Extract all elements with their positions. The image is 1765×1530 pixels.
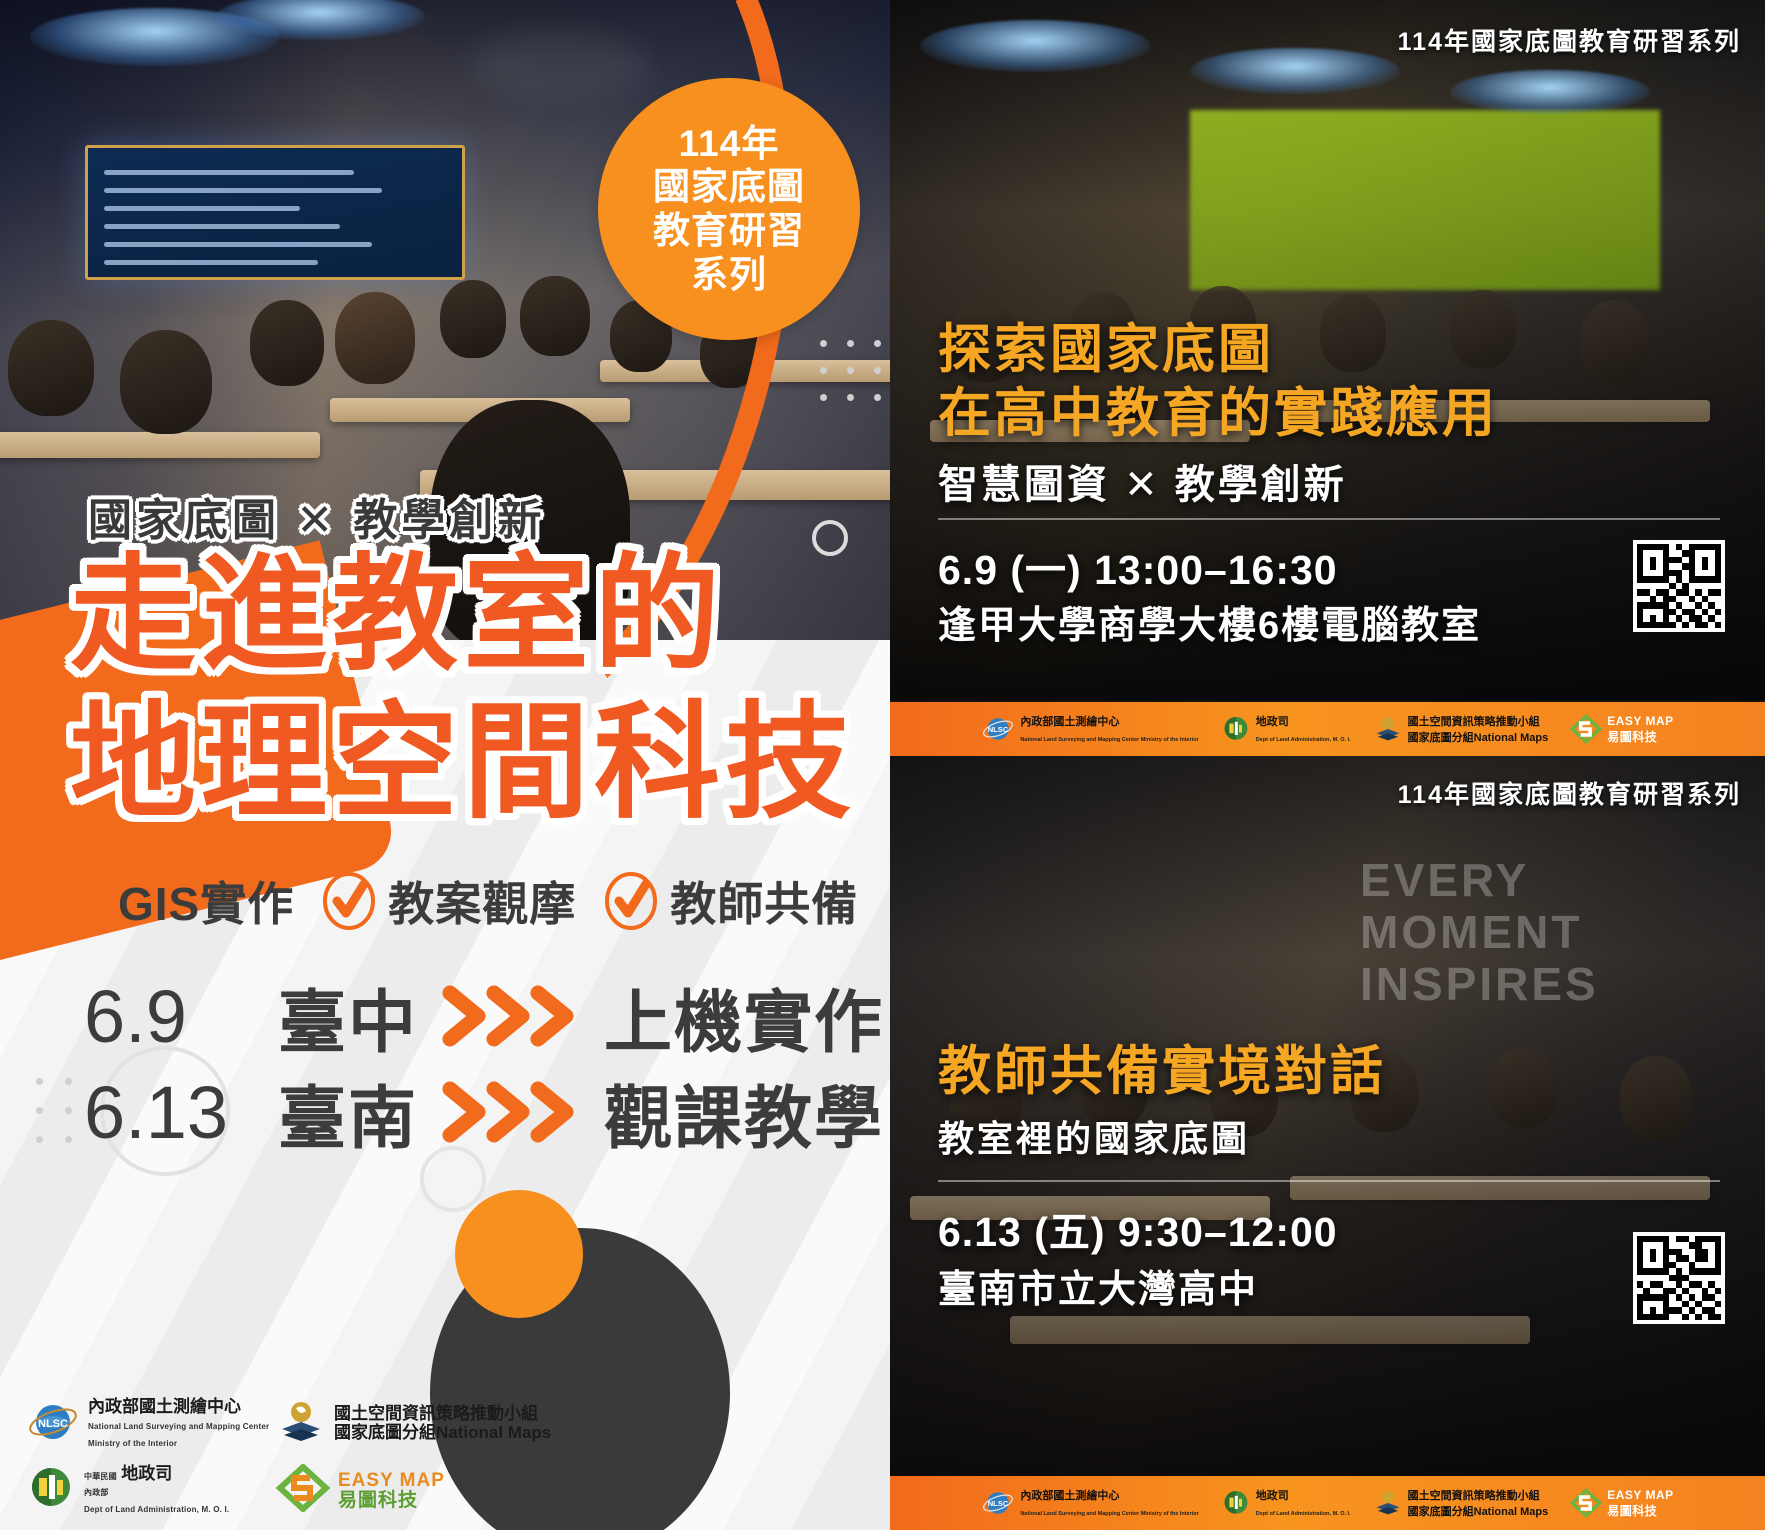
glass-text-moment: MOMENT	[1360, 908, 1582, 958]
logo-name-zh-small-2: 內政部	[84, 1488, 109, 1497]
logo-bar-bottom: NLSC 內政部國土測繪中心 National Land Surveying a…	[890, 1476, 1765, 1530]
logo-name-en: Dept of Land Administration, M. O. I.	[1256, 737, 1351, 743]
badge-line-3: 教育研習	[653, 209, 805, 253]
logo-name-zh: 易圖科技	[1607, 1504, 1657, 1518]
session-bottom-heading: 教師共備實境對話	[938, 1040, 1386, 1105]
easymap-logo-icon	[276, 1464, 330, 1517]
ring-decor	[812, 520, 848, 556]
nlsc-globe-logo-icon: NLSC	[981, 1488, 1015, 1518]
series-badge: 114年 國家底圖 教育研習 系列	[598, 78, 860, 340]
easymap-logo-icon	[1570, 1488, 1602, 1518]
logo-name-en: EASY MAP	[1607, 714, 1673, 728]
logo-name-en-1: Dept of Land Administration, M. O. I.	[84, 1505, 229, 1514]
logo-national-maps: 國土空間資訊策略推動小組 國家底圖分組National Maps	[1373, 713, 1549, 746]
logo-name-zh: 國土空間資訊策略推動小組	[1408, 716, 1540, 728]
logo-name-en: 國家底圖分組National Maps	[1408, 732, 1549, 744]
session-top-divider	[938, 518, 1720, 520]
chevron-triple-right-icon	[442, 1081, 582, 1143]
session-bottom-venue: 臺南市立大灣高中	[938, 1258, 1258, 1313]
logo-land-administration: 中華民國 地政司 內政部 Dept of Land Administration…	[26, 1465, 256, 1517]
schedule-row: 6.9 臺中 上機實作	[84, 968, 884, 1064]
green-wall-decor	[1190, 110, 1660, 290]
session-top-heading-line-1: 探索國家底圖	[938, 318, 1274, 383]
logo-easymap: EASY MAP 易圖科技	[1570, 1487, 1673, 1520]
session-bottom-datetime: 6.13 (五) 9:30–12:00	[938, 1198, 1338, 1258]
right-panel: 114年國家底圖教育研習系列 探索國家底圖 在高中教育的實踐應用 智慧圖資 ✕ …	[890, 0, 1765, 1530]
national-maps-layers-logo-icon	[1373, 714, 1403, 744]
logo-name-en: EASY MAP	[338, 1470, 445, 1491]
national-maps-layers-logo-icon	[1373, 1488, 1403, 1518]
poster-root: 114年 國家底圖 教育研習 系列 國家底圖 ✕ 教學創新 走進教室的 地理空間…	[0, 0, 1765, 1530]
nlsc-globe-logo-icon: NLSC	[26, 1399, 80, 1450]
check-circle-icon	[602, 872, 660, 930]
logo-land-administration: 地政司 Dept of Land Administration, M. O. I…	[1221, 713, 1351, 746]
logo-name-zh: 國土空間資訊策略推動小組	[1408, 1490, 1540, 1502]
logo-name-en: National Land Surveying and Mapping Cent…	[1020, 737, 1198, 743]
left-panel: 114年 國家底圖 教育研習 系列 國家底圖 ✕ 教學創新 走進教室的 地理空間…	[0, 0, 890, 1530]
logo-name-zh: 國土空間資訊策略推動小組	[334, 1404, 538, 1423]
chevron-triple-right-icon	[442, 985, 582, 1047]
qr-code-pattern	[1637, 544, 1721, 628]
logo-name-en-2: Ministry of the Interior	[88, 1439, 177, 1448]
logo-name-zh: 內政部國土測繪中心	[1020, 716, 1119, 728]
feature-item: 教案觀摩	[320, 868, 576, 934]
glass-text-every: EVERY	[1360, 856, 1529, 906]
check-circle-icon	[50, 872, 108, 930]
sponsor-logos-left: NLSC 內政部國土測繪中心 National Land Surveying a…	[26, 1398, 506, 1517]
logo-easymap: EASY MAP 易圖科技	[1570, 713, 1673, 746]
badge-line-1: 114年	[679, 122, 780, 166]
badge-line-4: 系列	[691, 253, 767, 297]
session-top-kicker: 114年國家底圖教育研習系列	[1398, 22, 1741, 58]
schedule-activity: 觀課教學	[604, 1063, 884, 1162]
feature-label: GIS實作	[118, 868, 294, 934]
feature-item: 教師共備	[602, 868, 858, 934]
logo-name-zh-2: 國家底圖分組National Maps	[334, 1423, 551, 1442]
logo-nlsc: NLSC 內政部國土測繪中心 National Land Surveying a…	[981, 1487, 1198, 1520]
svg-text:NLSC: NLSC	[988, 725, 1009, 734]
dot-grid-decor-bottom	[36, 1078, 72, 1143]
nlsc-globe-logo-icon: NLSC	[981, 714, 1015, 744]
logo-name-zh: 地政司	[1256, 1490, 1289, 1502]
dot-grid-decor-top	[820, 340, 881, 401]
land-administration-logo-icon	[1221, 1488, 1251, 1518]
logo-name-zh: 內政部國土測繪中心	[88, 1397, 241, 1416]
logo-name-zh: 易圖科技	[1607, 730, 1657, 744]
logo-name-zh: 易圖科技	[338, 1490, 418, 1511]
schedule-city: 臺中	[278, 967, 418, 1066]
land-administration-logo-icon	[1221, 714, 1251, 744]
qr-code-pattern	[1637, 1236, 1721, 1320]
logo-national-maps: 國土空間資訊策略推動小組 國家底圖分組National Maps	[1373, 1487, 1549, 1520]
logo-nlsc: NLSC 內政部國土測繪中心 National Land Surveying a…	[26, 1398, 256, 1450]
feature-label: 教師共備	[670, 868, 858, 934]
feature-list: GIS實作 教案觀摩 教師共備	[50, 868, 858, 934]
glass-text-inspires: INSPIRES	[1360, 960, 1599, 1010]
schedule-city: 臺南	[278, 1063, 418, 1162]
logo-land-administration: 地政司 Dept of Land Administration, M. O. I…	[1221, 1487, 1351, 1520]
feature-item: GIS實作	[50, 868, 294, 934]
logo-name-en: EASY MAP	[1607, 1488, 1673, 1502]
national-maps-layers-logo-icon	[276, 1399, 326, 1450]
logo-easymap: EASY MAP 易圖科技	[276, 1464, 506, 1517]
session-top-venue: 逢甲大學商學大樓6樓電腦教室	[938, 594, 1481, 649]
session-bottom-subtitle: 教室裡的國家底圖	[938, 1110, 1250, 1162]
schedule-list: 6.9 臺中 上機實作 6.13 臺南	[84, 968, 884, 1160]
logo-national-maps: 國土空間資訊策略推動小組 國家底圖分組National Maps	[276, 1399, 506, 1450]
left-kicker-text: 國家底圖 ✕ 教學創新	[88, 484, 545, 548]
schedule-date: 6.9	[84, 974, 264, 1059]
main-title-line-1: 走進教室的	[70, 552, 725, 678]
easymap-logo-icon	[1570, 714, 1602, 744]
logo-name-en-1: National Land Surveying and Mapping Cent…	[88, 1422, 269, 1431]
logo-bar-middle: NLSC 內政部國土測繪中心 National Land Surveying a…	[890, 702, 1765, 756]
logo-nlsc: NLSC 內政部國土測繪中心 National Land Surveying a…	[981, 713, 1198, 746]
logo-name-en: Dept of Land Administration, M. O. I.	[1256, 1511, 1351, 1517]
badge-line-2: 國家底圖	[653, 165, 805, 209]
logo-name-zh: 地政司	[121, 1464, 172, 1483]
check-circle-icon	[320, 872, 378, 930]
schedule-activity: 上機實作	[604, 967, 884, 1066]
logo-name-zh: 地政司	[1256, 716, 1289, 728]
logo-name-zh: 內政部國土測繪中心	[1020, 1490, 1119, 1502]
orange-circle-decor	[455, 1190, 583, 1318]
session-bottom-divider	[938, 1180, 1720, 1182]
logo-name-zh-small: 中華民國	[84, 1472, 117, 1481]
logo-name-en: National Land Surveying and Mapping Cent…	[1020, 1511, 1198, 1517]
session-top-subtitle: 智慧圖資 ✕ 教學創新	[938, 452, 1347, 510]
qr-code-icon[interactable]	[1633, 540, 1725, 632]
svg-text:NLSC: NLSC	[38, 1418, 68, 1430]
main-title-line-2: 地理空間科技	[70, 700, 856, 826]
session-bottom-kicker: 114年國家底圖教育研習系列	[1398, 775, 1741, 811]
session-top-datetime: 6.9 (一) 13:00–16:30	[938, 536, 1338, 596]
logo-name-en: 國家底圖分組National Maps	[1408, 1506, 1549, 1518]
session-top-heading-line-2: 在高中教育的實踐應用	[938, 382, 1498, 447]
qr-code-icon[interactable]	[1633, 1232, 1725, 1324]
land-administration-logo-icon	[26, 1465, 76, 1516]
schedule-date: 6.13	[84, 1070, 264, 1155]
svg-text:NLSC: NLSC	[988, 1499, 1009, 1508]
feature-label: 教案觀摩	[388, 868, 576, 934]
schedule-row: 6.13 臺南 觀課教學	[84, 1064, 884, 1160]
